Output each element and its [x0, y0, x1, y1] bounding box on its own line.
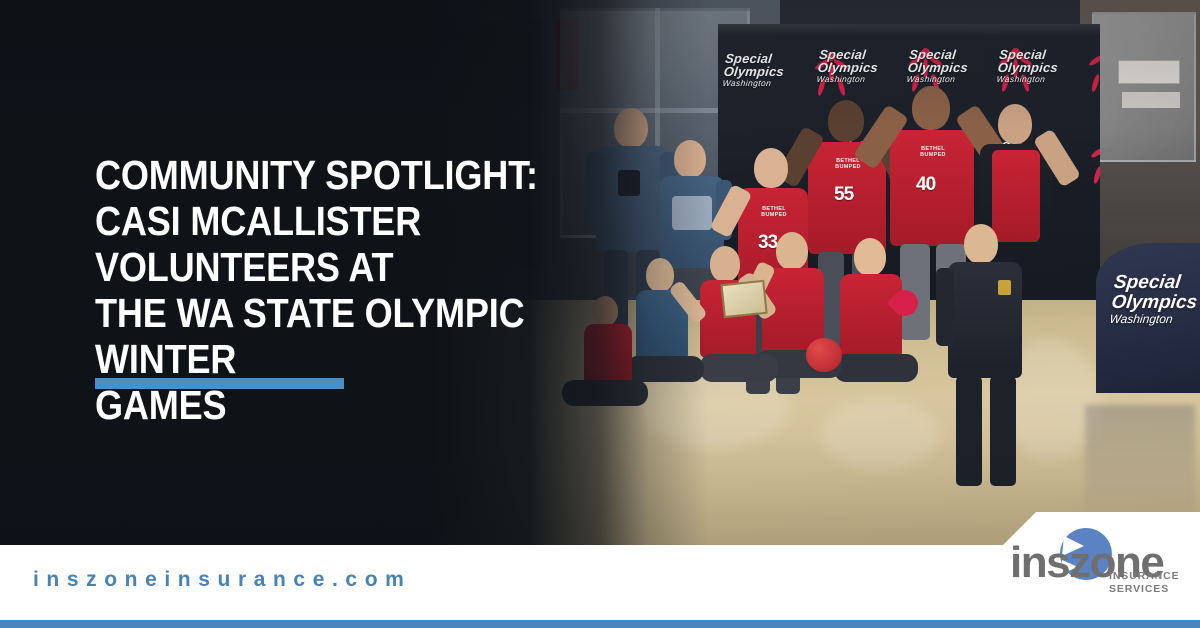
logo-subtitle-line2: SERVICES: [1109, 583, 1180, 596]
accent-bar: [95, 378, 344, 389]
brand-logo[interactable]: inszone INSURANCE SERVICES: [992, 512, 1200, 620]
logo-subtitle: INSURANCE SERVICES: [1109, 570, 1180, 595]
logo-subtitle-line1: INSURANCE: [1109, 570, 1180, 583]
promo-banner: Special Olympics Washington Special Olym…: [0, 0, 1200, 628]
website-url[interactable]: inszoneinsurance.com: [33, 568, 411, 592]
footer-accent-strip: [0, 620, 1200, 628]
